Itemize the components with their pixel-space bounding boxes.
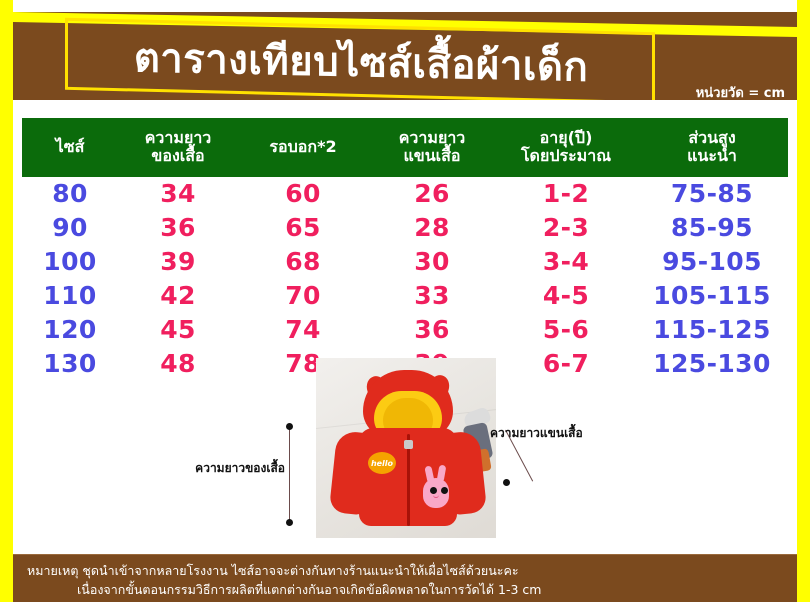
column-header-body-length: ความยาว ของเสื้อ [118,118,238,177]
cell-size: 80 [22,177,118,211]
cell-body-length: 45 [118,313,238,347]
cell-size: 100 [22,245,118,279]
column-header-size: ไซส์ [22,118,118,177]
column-header-chest: รอบอก*2 [238,118,368,177]
cell-sleeve: 30 [368,245,496,279]
cell-age: 5-6 [496,313,636,347]
body-length-bottom-endpoint-icon [286,519,293,526]
cell-size: 110 [22,279,118,313]
header-line-1: ไซส์ [56,137,85,156]
table-row: 100 39 68 30 3-4 95-105 [22,245,788,279]
header-line-2: ของเสื้อ [151,146,204,165]
cell-body-length: 42 [118,279,238,313]
size-table: ไซส์ ความยาว ของเสื้อ รอบอก*2 ความยาว แข… [22,118,788,381]
cell-size: 90 [22,211,118,245]
footer-note-line-1: หมายเหตุ ชุดนำเข้าจากหลายโรงงาน ไซส์อาจจ… [27,561,787,580]
footer-note: หมายเหตุ ชุดนำเข้าจากหลายโรงงาน ไซส์อาจจ… [13,554,797,602]
size-table-body: 80 34 60 26 1-2 75-85 90 36 65 28 2-3 85… [22,177,788,381]
header-line-2: แขนเสื้อ [403,146,460,165]
product-photo-area: ความยาวของเสื้อ hello [13,352,797,542]
size-table-wrapper: ไซส์ ความยาว ของเสื้อ รอบอก*2 ความยาว แข… [22,118,788,381]
jacket-hello-patch: hello [368,452,396,474]
cell-chest: 60 [238,177,368,211]
column-header-age: อายุ(ปี) โดยประมาณ [496,118,636,177]
cell-body-length: 36 [118,211,238,245]
cell-sleeve: 36 [368,313,496,347]
cell-chest: 65 [238,211,368,245]
cell-size: 120 [22,313,118,347]
header-banner: ตารางเทียบไซส์เสื้อผ้าเด็ก หน่วยวัด = cm [13,12,797,100]
jacket-product-image: hello [316,358,496,538]
frame-top-edge [0,0,810,12]
table-row: 90 36 65 28 2-3 85-95 [22,211,788,245]
jacket-zipper-pull-icon [404,440,413,449]
cell-height: 105-115 [636,279,788,313]
header-line-1: ความยาว [399,128,466,147]
cell-height: 115-125 [636,313,788,347]
cell-chest: 68 [238,245,368,279]
footer-note-line-2: เนื่องจากขั้นตอนกรรมวิธีการผลิตที่แตกต่า… [27,580,787,599]
cell-height: 95-105 [636,245,788,279]
annotation-label-body-length: ความยาวของเสื้อ [185,459,285,478]
bunny-print-eye-right [441,487,448,494]
cell-age: 1-2 [496,177,636,211]
cell-sleeve: 26 [368,177,496,211]
size-chart-page: ตารางเทียบไซส์เสื้อผ้าเด็ก หน่วยวัด = cm… [0,0,810,608]
page-title: ตารางเทียบไซส์เสื้อผ้าเด็ก [65,20,657,100]
column-header-height: ส่วนสูง แนะนำ [636,118,788,177]
table-header-row: ไซส์ ความยาว ของเสื้อ รอบอก*2 ความยาว แข… [22,118,788,177]
cell-age: 3-4 [496,245,636,279]
header-line-2: แนะนำ [687,146,737,165]
unit-note: หน่วยวัด = cm [696,82,785,100]
header-line-1: อายุ(ปี) [540,128,593,147]
body-length-top-endpoint-icon [286,423,293,430]
cell-age: 2-3 [496,211,636,245]
table-row: 80 34 60 26 1-2 75-85 [22,177,788,211]
frame-right-edge [797,0,810,608]
table-row: 120 45 74 36 5-6 115-125 [22,313,788,347]
cell-sleeve: 33 [368,279,496,313]
size-table-head: ไซส์ ความยาว ของเสื้อ รอบอก*2 ความยาว แข… [22,118,788,177]
header-line-1: รอบอก*2 [269,137,336,156]
column-header-sleeve-length: ความยาว แขนเสื้อ [368,118,496,177]
frame-bottom-edge [0,602,810,608]
header-line-1: ความยาว [145,128,212,147]
cell-height: 85-95 [636,211,788,245]
body-length-measure-line [289,426,290,522]
cell-sleeve: 28 [368,211,496,245]
cell-body-length: 39 [118,245,238,279]
cell-chest: 74 [238,313,368,347]
cell-body-length: 34 [118,177,238,211]
frame-left-edge [0,0,13,608]
cell-age: 4-5 [496,279,636,313]
header-line-2: โดยประมาณ [521,146,611,165]
cell-height: 75-85 [636,177,788,211]
header-line-1: ส่วนสูง [688,128,735,147]
table-row: 110 42 70 33 4-5 105-115 [22,279,788,313]
cell-chest: 70 [238,279,368,313]
sleeve-length-endpoint-icon [503,479,510,486]
annotation-label-sleeve-length: ความยาวแขนเสื้อ [490,424,583,443]
